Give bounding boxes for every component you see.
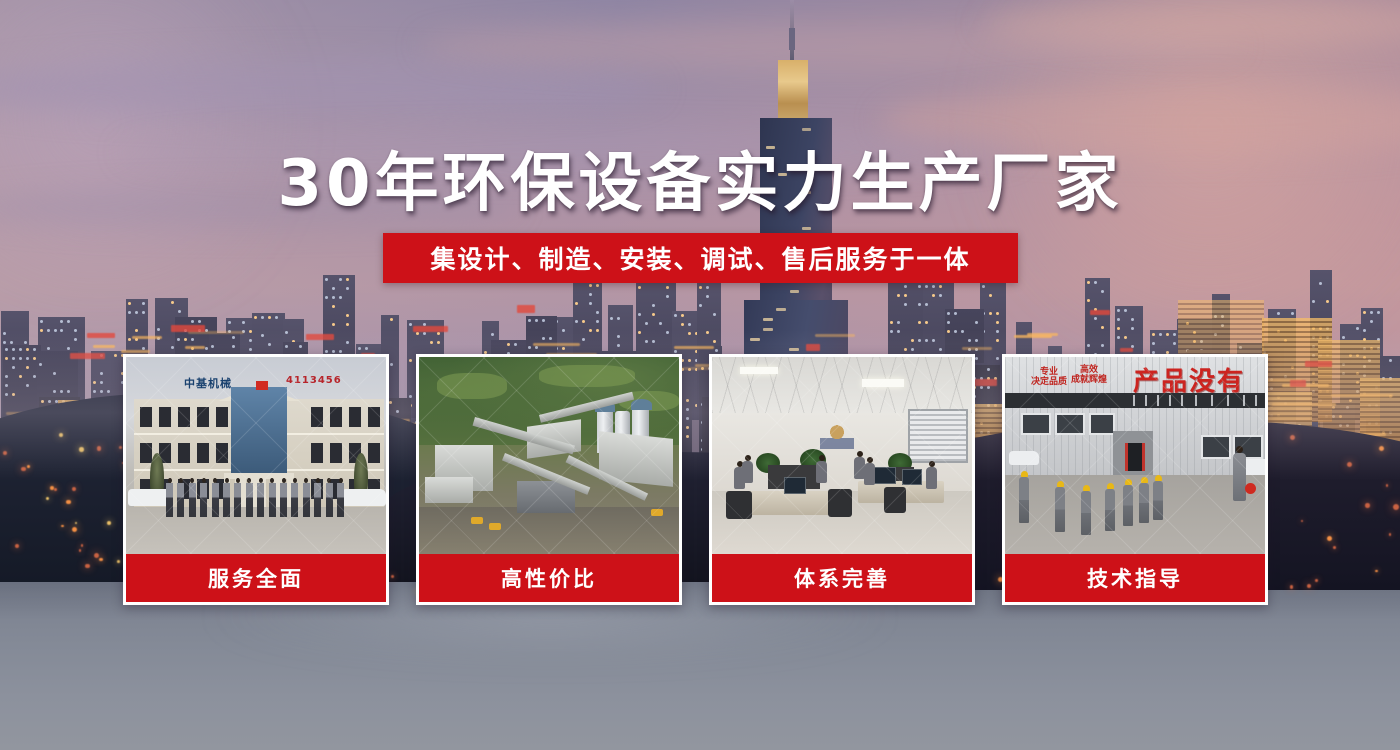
factory-slogan-left: 专业 [1040, 367, 1058, 377]
production-plant-aerial-photo [419, 357, 679, 554]
wall-decal [820, 421, 854, 449]
factory-side-door [1125, 443, 1145, 471]
courtyard-ground [126, 507, 386, 554]
building-sign-text: 中基机械 [184, 375, 232, 391]
feature-card-list: 中基机械 4113456 服务全面 [123, 354, 1277, 605]
feature-card[interactable]: 体系完善 [709, 354, 975, 605]
tower-spire-segment [789, 28, 795, 50]
feature-card[interactable]: 中基机械 4113456 服务全面 [123, 354, 389, 605]
page-title: 30年环保设备实力生产厂家 [0, 132, 1400, 224]
card-caption: 高性价比 [419, 554, 679, 602]
card-caption: 体系完善 [712, 554, 972, 602]
card-caption: 技术指导 [1005, 554, 1265, 602]
subtitle-text: 集设计、制造、安装、调试、售后服务于一体 [430, 240, 970, 276]
factory-slogan-right: 高效 [1080, 365, 1098, 375]
window-band [1005, 393, 1265, 408]
building-phone-text: 4113456 [286, 375, 342, 386]
promo-banner: 30年环保设备实力生产厂家 集设计、制造、安装、调试、售后服务于一体 中基机械 … [0, 0, 1400, 750]
factory-yard [1005, 475, 1265, 554]
workshop-training-photo: 产品没有 专业 决定品质 高效 成就辉煌 [1005, 357, 1265, 554]
tower-crown-lit [778, 60, 808, 122]
feature-card[interactable]: 产品没有 专业 决定品质 高效 成就辉煌 [1002, 354, 1268, 605]
feature-card[interactable]: 高性价比 [416, 354, 682, 605]
card-caption: 服务全面 [126, 554, 386, 602]
company-headquarters-photo: 中基机械 4113456 [126, 357, 386, 554]
flag-icon [256, 381, 268, 390]
subtitle-banner: 集设计、制造、安装、调试、售后服务于一体 [383, 233, 1018, 283]
window-blinds [908, 409, 968, 463]
factory-slogan-left-sub: 决定品质 [1031, 377, 1067, 387]
ceiling-grid [712, 357, 972, 413]
factory-slogan-right-sub: 成就辉煌 [1071, 375, 1107, 385]
office-interior-photo [712, 357, 972, 554]
plant-yard [419, 507, 679, 554]
